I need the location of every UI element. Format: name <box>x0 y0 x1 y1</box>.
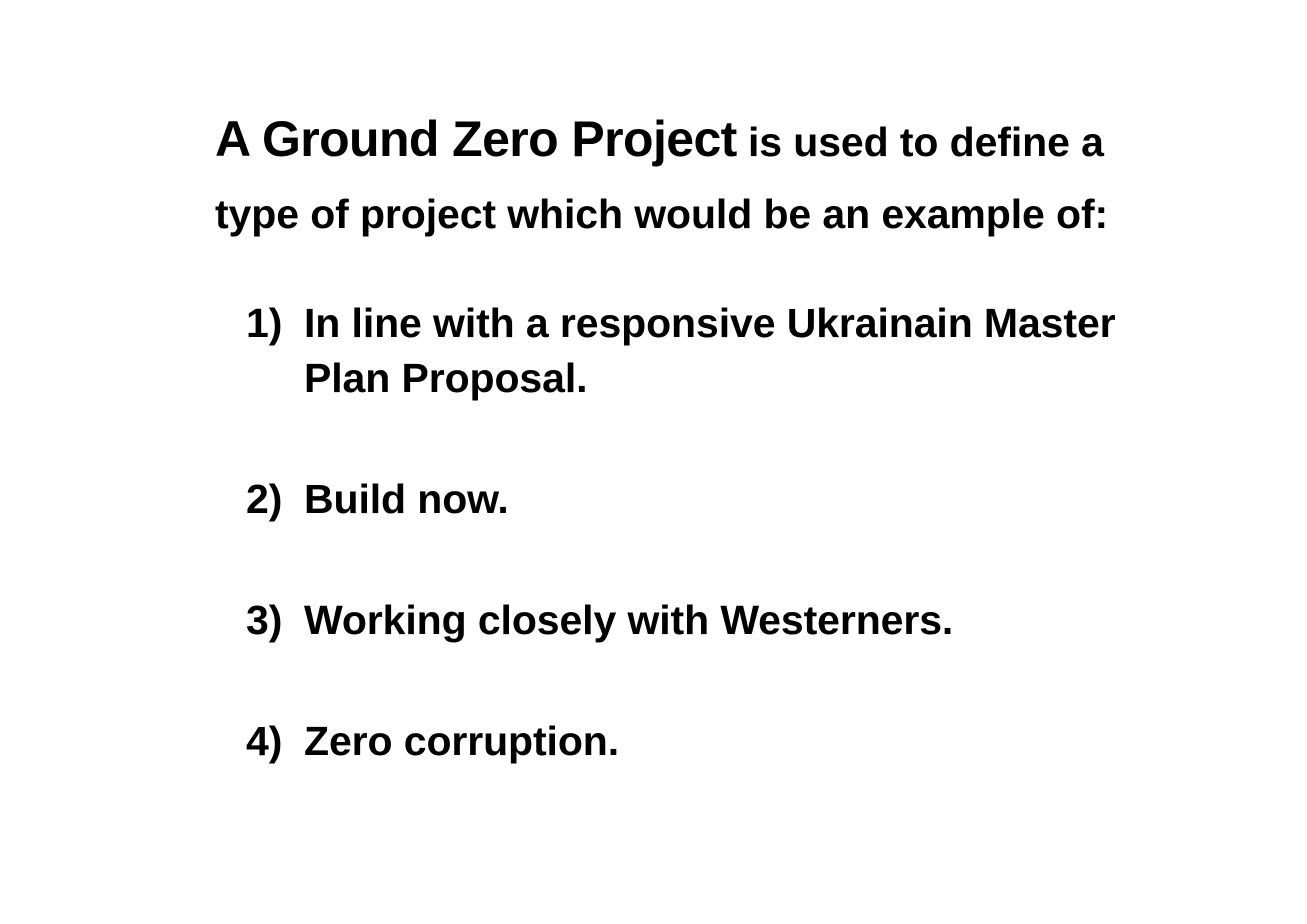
heading-line-two: type of project which would be an exampl… <box>215 183 1190 245</box>
list-item-marker: 3) <box>246 593 304 648</box>
numbered-list: 1) In line with a responsive Ukrainain M… <box>246 296 1206 769</box>
list-item: 2) Build now. <box>246 472 1206 527</box>
list-item: 3) Working closely with Westerners. <box>246 593 1206 648</box>
list-item-text: Build now. <box>304 472 1206 527</box>
heading-predicate: is used to define a <box>737 119 1104 165</box>
heading-emphasis-term: A Ground Zero Project <box>215 111 737 167</box>
list-item-text: In line with a responsive Ukrainain Mast… <box>304 296 1206 406</box>
list-item-marker: 1) <box>246 296 304 351</box>
list-item-marker: 4) <box>246 714 304 769</box>
list-item-marker: 2) <box>246 472 304 527</box>
list-item-text: Working closely with Westerners. <box>304 593 1206 648</box>
slide-canvas: A Ground Zero Project is used to define … <box>0 0 1307 924</box>
slide-heading: A Ground Zero Project is used to define … <box>215 108 1190 245</box>
list-item: 1) In line with a responsive Ukrainain M… <box>246 296 1206 406</box>
list-item: 4) Zero corruption. <box>246 714 1206 769</box>
list-item-text: Zero corruption. <box>304 714 1206 769</box>
